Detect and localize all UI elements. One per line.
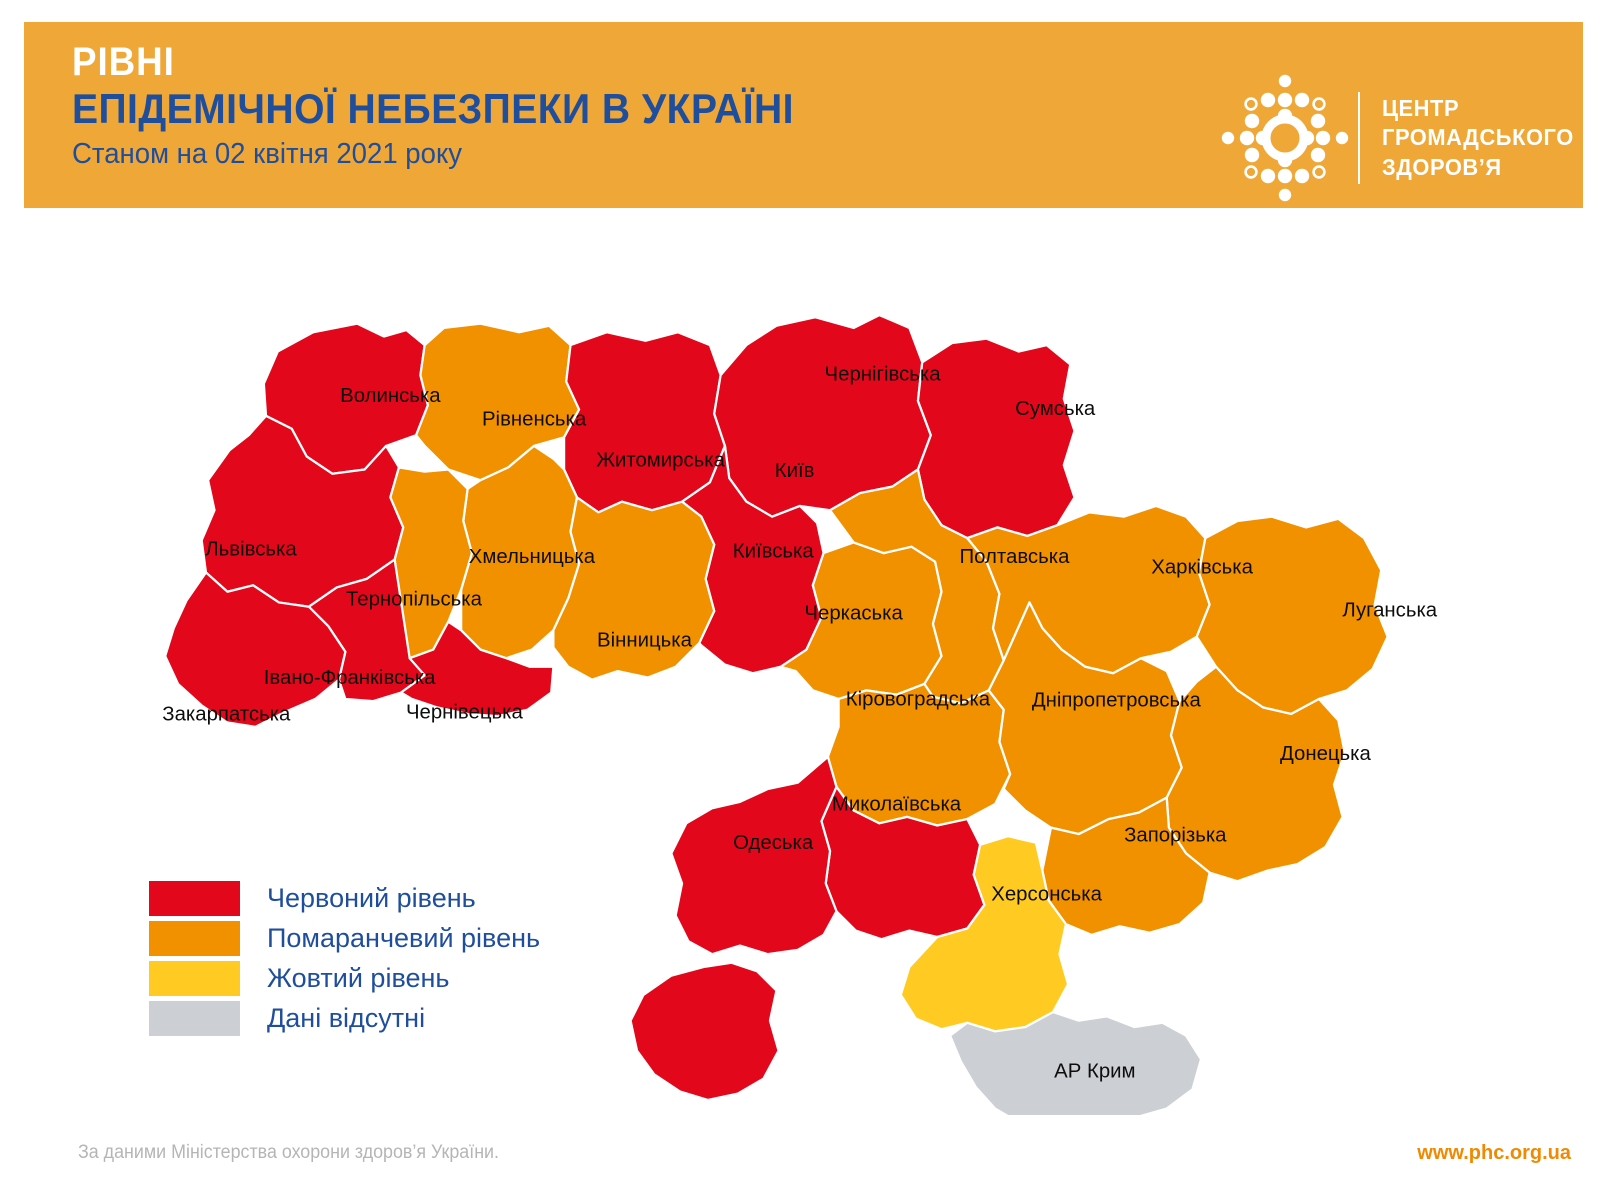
page-title-secondary: ЕПІДЕМІЧНОЇ НЕБЕЗПЕКИ В УКРАЇНІ — [72, 85, 794, 132]
footer-website-url[interactable]: www.phc.org.ua — [1417, 1142, 1571, 1165]
legend-item-red: Червоний рівень — [148, 878, 540, 918]
logo-divider — [1358, 92, 1360, 184]
legend: Червоний рівень Помаранчевий рівень Жовт… — [148, 878, 540, 1038]
legend-label-red: Червоний рівень — [267, 885, 476, 912]
map-region-rivne[interactable] — [416, 324, 579, 481]
logo-line-3: ЗДОРОВ’Я — [1382, 153, 1574, 182]
phc-dot-mandala-icon — [1220, 70, 1350, 206]
map-region-odesa-south[interactable] — [631, 963, 779, 1100]
title-block: РІВНІ ЕПІДЕМІЧНОЇ НЕБЕЗПЕКИ В УКРАЇНІ Ст… — [72, 42, 848, 171]
map-region-kharkiv[interactable] — [967, 506, 1209, 673]
logo-line-2: ГРОМАДСЬКОГО — [1382, 123, 1574, 152]
page-title-primary: РІВНІ — [72, 42, 786, 83]
legend-swatch-yellow — [148, 960, 241, 997]
legend-swatch-orange — [148, 920, 241, 957]
logo-line-1: ЦЕНТР — [1382, 94, 1574, 123]
legend-item-nodata: Дані відсутні — [148, 998, 540, 1038]
legend-swatch-red — [148, 880, 241, 917]
map-region-odesa[interactable] — [671, 757, 836, 954]
logo-wordmark: ЦЕНТР ГРОМАДСЬКОГО ЗДОРОВ’Я — [1382, 94, 1574, 182]
legend-label-nodata: Дані відсутні — [267, 1005, 425, 1032]
legend-swatch-nodata — [148, 1000, 241, 1037]
legend-item-orange: Помаранчевий рівень — [148, 918, 540, 958]
legend-label-yellow: Жовтий рівень — [267, 965, 449, 992]
legend-label-orange: Помаранчевий рівень — [267, 925, 540, 952]
legend-item-yellow: Жовтий рівень — [148, 958, 540, 998]
footer-source-note: За даними Міністерства охорони здоров’я … — [78, 1142, 499, 1164]
map-region-zhytomyr[interactable] — [564, 332, 725, 512]
report-date: Станом на 02 квітня 2021 року — [72, 138, 809, 171]
phc-logo: ЦЕНТР ГРОМАДСЬКОГО ЗДОРОВ’Я — [1220, 70, 1580, 206]
map-region-vinnytsia[interactable] — [553, 497, 714, 679]
header-bar: РІВНІ ЕПІДЕМІЧНОЇ НЕБЕЗПЕКИ В УКРАЇНІ Ст… — [24, 22, 1583, 208]
map-region-kirovohrad[interactable] — [828, 684, 1010, 826]
map-region-sumy[interactable] — [918, 339, 1075, 538]
